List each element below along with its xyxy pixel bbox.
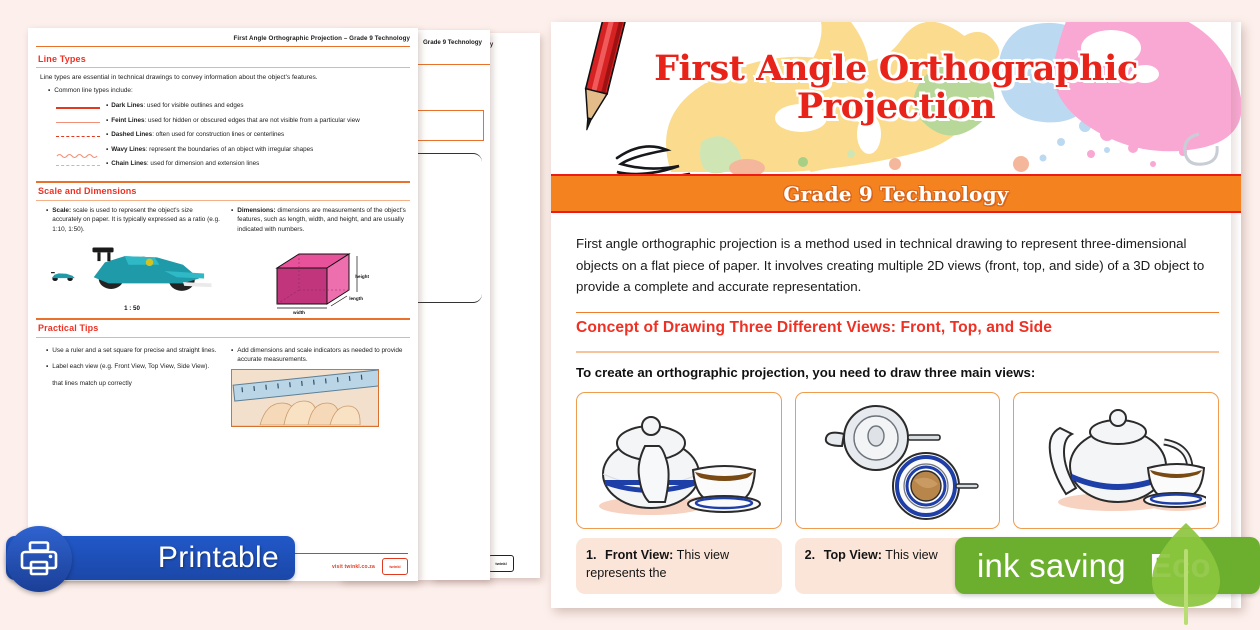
head-rule [36, 46, 410, 47]
cube-label-length: length [349, 296, 363, 301]
hero-banner: First Angle Orthographic Projection [551, 22, 1241, 174]
line-type-name: Dashed Lines [111, 131, 152, 138]
tip-item: Use a ruler and a set square for precise… [52, 346, 216, 356]
document-page-front[interactable]: First Angle Orthographic Projection – Gr… [28, 28, 418, 581]
card-view-name: Top View: [824, 548, 882, 562]
dimensions-label: Dimensions: [237, 207, 275, 214]
line-types-list: ▪Dark Lines: used for visible outlines a… [28, 96, 418, 177]
line-type-desc: : used for hidden or obscured edges that… [144, 117, 359, 124]
section-heading: Concept of Drawing Three Different Views… [551, 313, 1241, 343]
line-types-bullet-row: ▪ Common line types include: [28, 85, 418, 96]
scale-dimensions-columns: ▪ Scale: scale is used to represent the … [28, 201, 418, 235]
twinkl-logo: twinkl [488, 555, 514, 572]
line-type-item: ▪Dashed Lines: often used for constructi… [54, 130, 404, 141]
subtitle-text: Grade 9 Technology [783, 182, 1008, 206]
line-type-item: ▪Chain Lines: used for dimension and ext… [54, 159, 404, 170]
line-type-item: ▪Wavy Lines: represent the boundaries of… [54, 145, 404, 156]
tips-column-left: ▪Use a ruler and a set square for precis… [46, 346, 221, 427]
dimensions-bullet: ▪ Dimensions: dimensions are measurement… [231, 206, 406, 235]
card-number: 2. [805, 548, 816, 562]
section-practical-tips: Practical Tips ▪Use a ruler and a set sq… [28, 318, 418, 426]
line-type-item: ▪Dark Lines: used for visible outlines a… [54, 101, 404, 112]
card-caption: 1. Front View: This view represents the [576, 538, 782, 594]
teapot-front-view-icon [589, 398, 769, 523]
card-number: 1. [586, 548, 597, 562]
card-caption-rest: This view [882, 548, 938, 562]
twinkl-logo: twinkl [382, 558, 408, 575]
eco-badge[interactable]: ink saving Eco [955, 525, 1260, 630]
section-title-scale: Scale and Dimensions [28, 183, 418, 200]
line-type-name: Dark Lines [111, 102, 143, 109]
screenshot-stage: Grade 9 Technology visit twinkl.co.za tw… [0, 0, 1260, 630]
card-view-name: Front View: [605, 548, 673, 562]
pencil-icon [573, 22, 643, 156]
line-type-item: ▪Feint Lines: used for hidden or obscure… [54, 116, 404, 127]
printable-icon-circle [6, 526, 72, 592]
line-types-bullet: Common line types include: [54, 86, 133, 96]
section-scale-dimensions: Scale and Dimensions ▪ Scale: scale is u… [28, 181, 418, 312]
page-title: First Angle Orthographic Projection [551, 50, 1241, 126]
card-image-frame [1013, 392, 1219, 529]
wavy-line-sample-icon [54, 147, 102, 156]
tip-item: Add dimensions and scale indicators as n… [237, 346, 406, 365]
dimensions-figure: height length width [228, 246, 406, 312]
teapot-side-view-icon [1026, 398, 1206, 523]
line-type-name: Wavy Lines [111, 146, 145, 153]
scale-text: scale is used to represent the object's … [52, 207, 220, 233]
section-title-line-types: Line Types [28, 50, 418, 67]
section-line-types: Line Types Line types are essential in t… [28, 50, 418, 177]
tip-item: that lines match up correctly [52, 379, 132, 389]
printable-label: Printable [158, 541, 279, 575]
line-type-name: Feint Lines [111, 117, 144, 124]
tip-item: Label each view (e.g. Front View, Top Vi… [52, 362, 209, 372]
section-title-tips: Practical Tips [28, 320, 418, 337]
subtitle-band: Grade 9 Technology [551, 174, 1241, 213]
teapot-top-view-icon [808, 398, 988, 523]
ruler-photo [231, 369, 379, 427]
chain-line-sample-icon [54, 161, 102, 170]
line-type-name: Chain Lines [111, 160, 147, 167]
scale-ratio-caption: 1 : 50 [42, 305, 222, 312]
cube-label-height: height [355, 274, 369, 279]
intro-paragraph: First angle orthographic projection is a… [551, 213, 1241, 304]
tips-column-right: ▪Add dimensions and scale indicators as … [231, 346, 406, 427]
figures-row: 1 : 50 [28, 234, 418, 312]
cube-label-width: width [293, 310, 305, 315]
dark-line-sample-icon [54, 103, 102, 112]
line-type-desc: : represent the boundaries of an object … [146, 146, 314, 153]
eco-label-ink-saving: ink saving [977, 547, 1126, 585]
scale-label: Scale: [52, 207, 71, 214]
page-title-line-1: First Angle Orthographic [551, 50, 1241, 88]
dashed-line-sample-icon [54, 132, 102, 141]
bullet-dot: ▪ [48, 86, 50, 96]
cube-illustration-icon: height length width [269, 248, 365, 312]
line-type-desc: : used for visible outlines and edges [143, 102, 243, 109]
race-car-illustration-icon [42, 236, 222, 298]
page-title-line-2: Projection [551, 88, 1241, 126]
card-image-frame [576, 392, 782, 529]
scale-bullet: ▪ Scale: scale is used to represent the … [46, 206, 221, 235]
tips-columns: ▪Use a ruler and a set square for precis… [28, 338, 418, 427]
footer-url[interactable]: visit twinkl.co.za [332, 564, 375, 570]
line-type-desc: : often used for construction lines or c… [152, 131, 284, 138]
leaf-icon [1130, 521, 1242, 629]
printable-badge[interactable]: Printable [0, 527, 297, 589]
scale-figure: 1 : 50 [42, 236, 222, 312]
line-type-desc: : used for dimension and extension lines [147, 160, 259, 167]
lead-line: To create an orthographic projection, yo… [551, 353, 1241, 380]
line-types-intro: Line types are essential in technical dr… [28, 68, 418, 85]
printer-icon [19, 540, 59, 578]
view-card-front[interactable]: 1. Front View: This view represents the [576, 392, 782, 594]
card-image-frame [795, 392, 1001, 529]
feint-line-sample-icon [54, 118, 102, 127]
running-head: First Angle Orthographic Projection – Gr… [28, 28, 418, 46]
